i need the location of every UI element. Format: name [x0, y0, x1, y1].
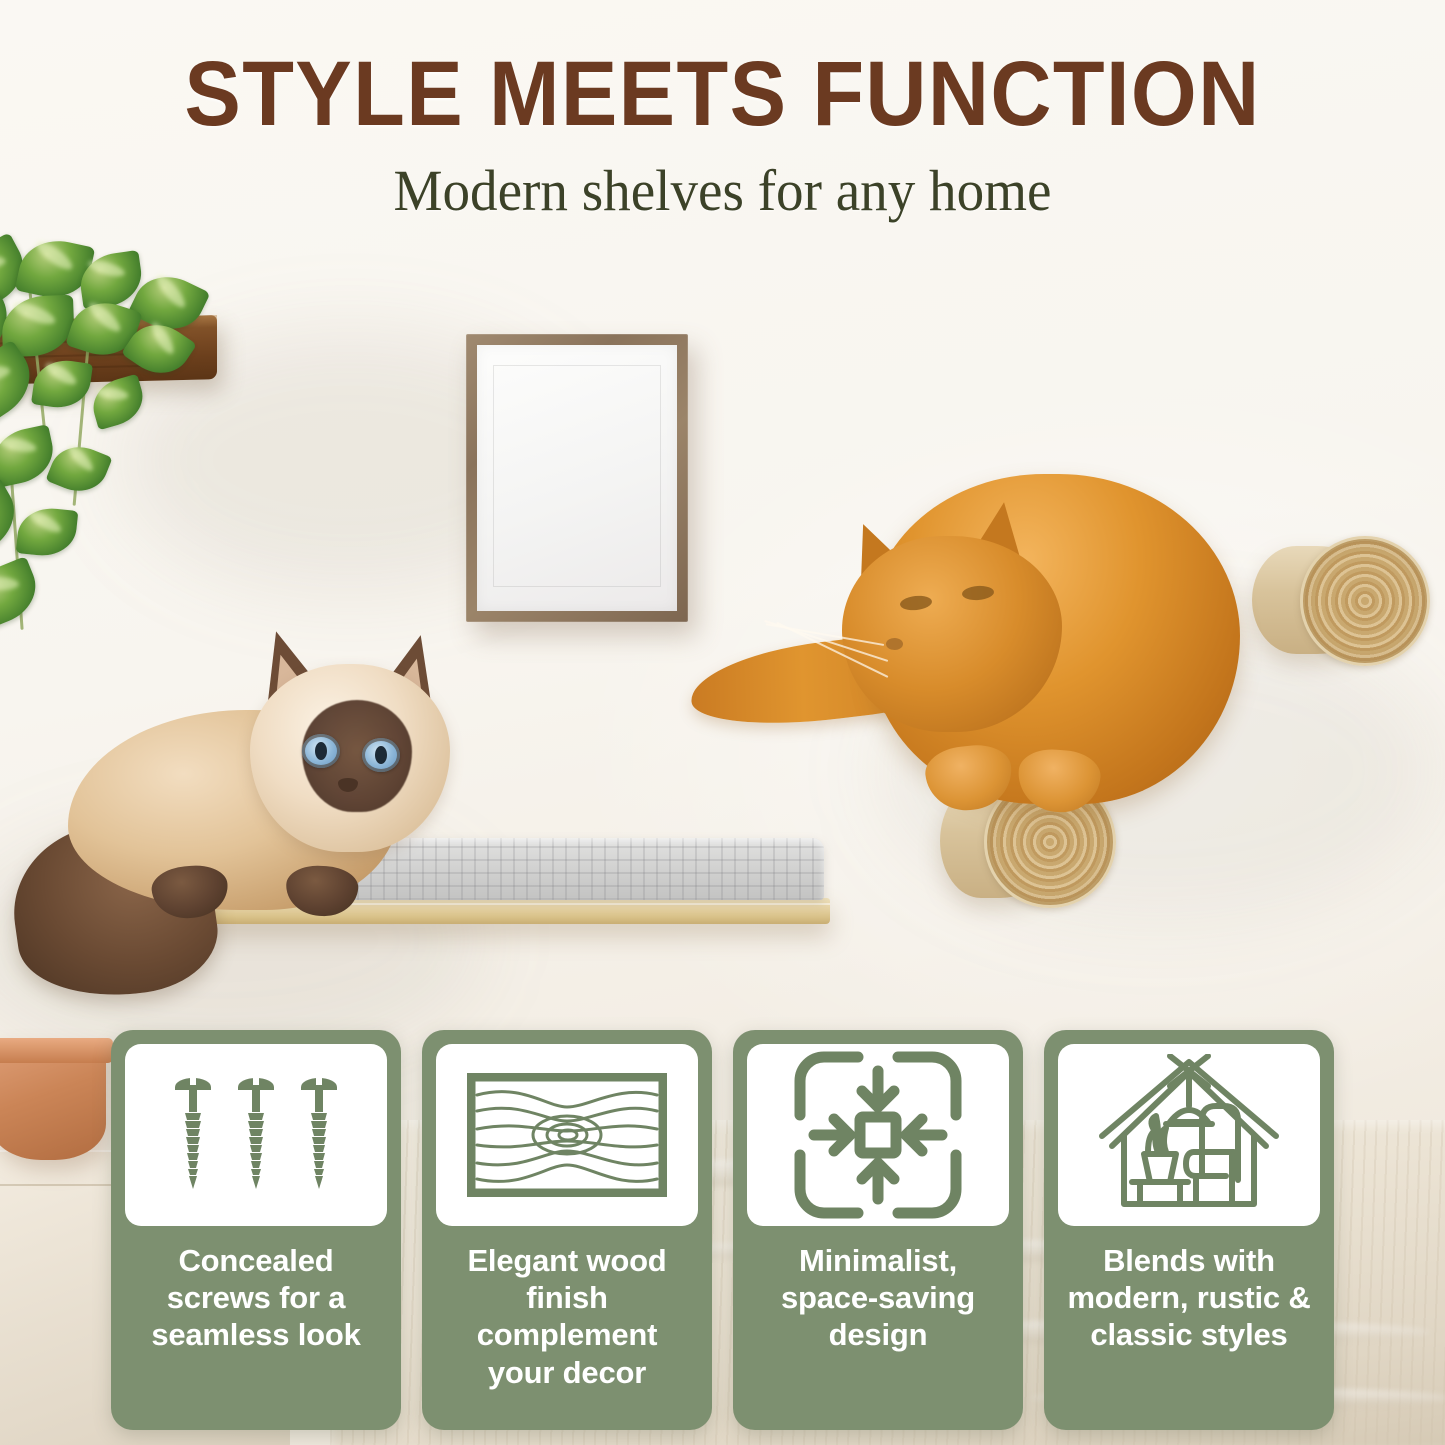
feature-icon-wrapper: [436, 1044, 698, 1226]
house-interior-icon: [1096, 1054, 1282, 1216]
feature-card-text: Concealed screws for a seamless look: [151, 1242, 360, 1354]
feature-card-space-saving[interactable]: Minimalist, space-saving design: [733, 1030, 1023, 1430]
orange-cat: [690, 450, 1250, 870]
feature-card-text: Minimalist, space-saving design: [781, 1242, 975, 1354]
siamese-cat: [10, 628, 480, 1008]
picture-frame: [466, 334, 688, 622]
feature-card-text: Blends with modern, rustic & classic sty…: [1067, 1242, 1310, 1354]
page-title: STYLE MEETS FUNCTION: [58, 48, 1387, 140]
feature-icon-wrapper: [1058, 1044, 1320, 1226]
feature-icon-wrapper: [747, 1044, 1009, 1226]
screws-icon: [161, 1065, 351, 1205]
feature-card-concealed-screws[interactable]: Concealed screws for a seamless look: [111, 1030, 401, 1430]
feature-card-wood-finish[interactable]: Elegant wood finish complement your deco…: [422, 1030, 712, 1430]
sisal-step-upper: [1252, 536, 1442, 664]
cat-pupil: [315, 742, 327, 760]
feature-card-text: Elegant wood finish complement your deco…: [436, 1242, 698, 1391]
product-infographic: STYLE MEETS FUNCTION Modern shelves for …: [0, 0, 1445, 1445]
cat-paw: [285, 864, 360, 918]
cat-head: [842, 536, 1062, 732]
cat-nose: [886, 638, 903, 650]
pothos-plant: [0, 240, 250, 680]
feature-icon-wrapper: [125, 1044, 387, 1226]
cat-pupil: [375, 746, 387, 764]
feature-card-blends-styles[interactable]: Blends with modern, rustic & classic sty…: [1044, 1030, 1334, 1430]
wood-grain-icon: [467, 1073, 667, 1197]
header: STYLE MEETS FUNCTION Modern shelves for …: [0, 48, 1445, 220]
compress-arrows-icon: [794, 1051, 962, 1219]
feature-card-list: Concealed screws for a seamless look: [0, 1030, 1445, 1430]
frame-mat: [477, 345, 677, 611]
page-subtitle: Modern shelves for any home: [36, 162, 1409, 220]
